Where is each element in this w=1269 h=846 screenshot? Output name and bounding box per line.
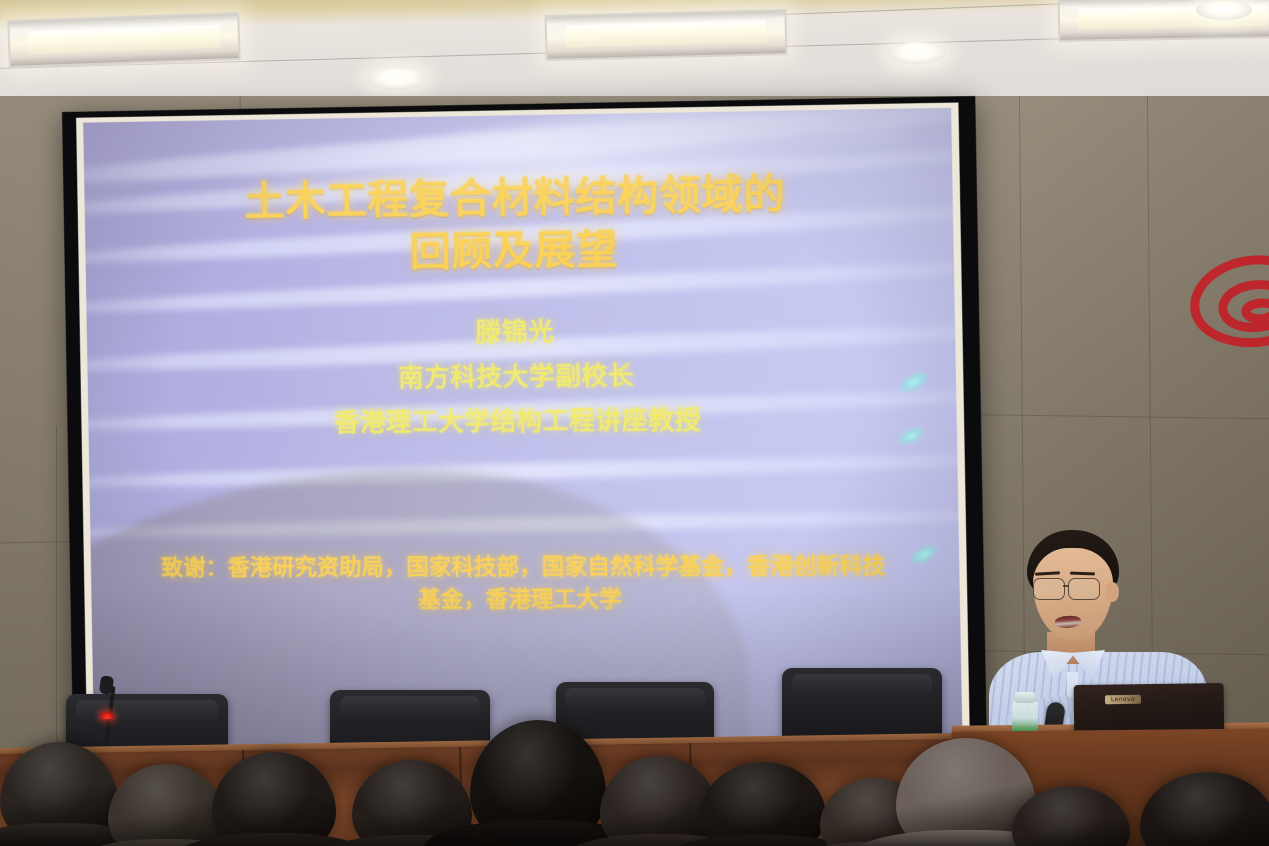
ceiling-troffer-light	[7, 12, 241, 68]
screen-surface: 土木工程复合材料结构领域的 回顾及展望 滕锦光 南方科技大学副校长 香港理工大学…	[83, 108, 962, 749]
screen-bezel: 土木工程复合材料结构领域的 回顾及展望 滕锦光 南方科技大学副校长 香港理工大学…	[76, 103, 970, 756]
audience-silhouettes	[0, 690, 1269, 846]
speaker-glasses-bridge	[1063, 585, 1069, 587]
institution-swirl-logo	[1173, 246, 1269, 366]
audience-member	[108, 764, 224, 846]
ceiling-downlight	[368, 68, 426, 90]
speaker-glasses-left-lens	[1033, 578, 1065, 600]
ceiling-troffer-light	[544, 9, 787, 61]
audience-member	[600, 756, 718, 846]
speaker-ear	[1106, 582, 1119, 602]
ceiling-downlight	[888, 42, 946, 64]
lecture-hall-scene: 土木工程复合材料结构领域的 回顾及展望 滕锦光 南方科技大学副校长 香港理工大学…	[0, 0, 1269, 846]
screen-vignette	[83, 108, 962, 749]
ceiling-downlight	[1196, 0, 1252, 20]
projection-screen: 土木工程复合材料结构领域的 回顾及展望 滕锦光 南方科技大学副校长 香港理工大学…	[62, 96, 987, 765]
troffer-lamp	[566, 21, 766, 48]
audience-member	[700, 762, 826, 846]
troffer-lamp	[28, 24, 220, 54]
audience-member	[212, 752, 336, 846]
audience-member	[1140, 772, 1269, 846]
speaker-glasses-right-lens	[1068, 578, 1100, 600]
